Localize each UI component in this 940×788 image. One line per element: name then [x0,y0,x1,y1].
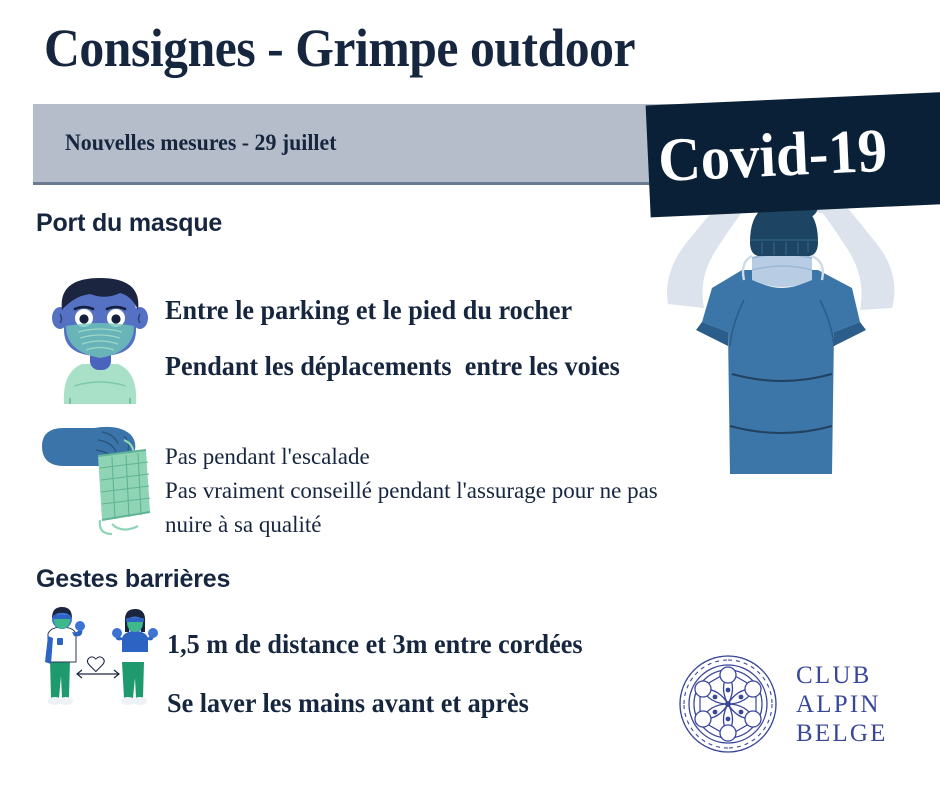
logo-line-alpin: ALPIN [796,690,888,719]
covid-badge-label: Covid-19 [657,120,889,192]
mask-statement-2: Pendant les déplacements entre les voies [165,350,620,382]
cab-emblem-icon [676,652,780,756]
logo-line-belge: BELGE [796,719,888,748]
logo-wordmark: CLUB ALPIN BELGE [796,661,888,748]
masked-person-illustration [36,268,164,404]
logo-line-club: CLUB [796,661,888,690]
mask-statement-1: Entre le parking et le pied du rocher [165,294,572,326]
barrier-statement-1: 1,5 m de distance et 3m entre cordées [167,628,583,660]
hand-holding-mask-illustration [40,420,165,540]
section-heading-mask: Port du masque [36,209,222,238]
section-heading-barriers: Gestes barrières [36,565,230,594]
club-alpin-belge-logo: CLUB ALPIN BELGE [676,648,926,760]
barrier-statement-2: Se laver les mains avant et après [167,687,529,719]
climber-with-mask-illustration [620,196,940,526]
page-title: Consignes - Grimpe outdoor [44,16,635,80]
covid-badge: Covid-19 [646,91,940,218]
social-distance-illustration [36,606,164,710]
subtitle-text: Nouvelles mesures - 29 juillet [65,130,336,156]
